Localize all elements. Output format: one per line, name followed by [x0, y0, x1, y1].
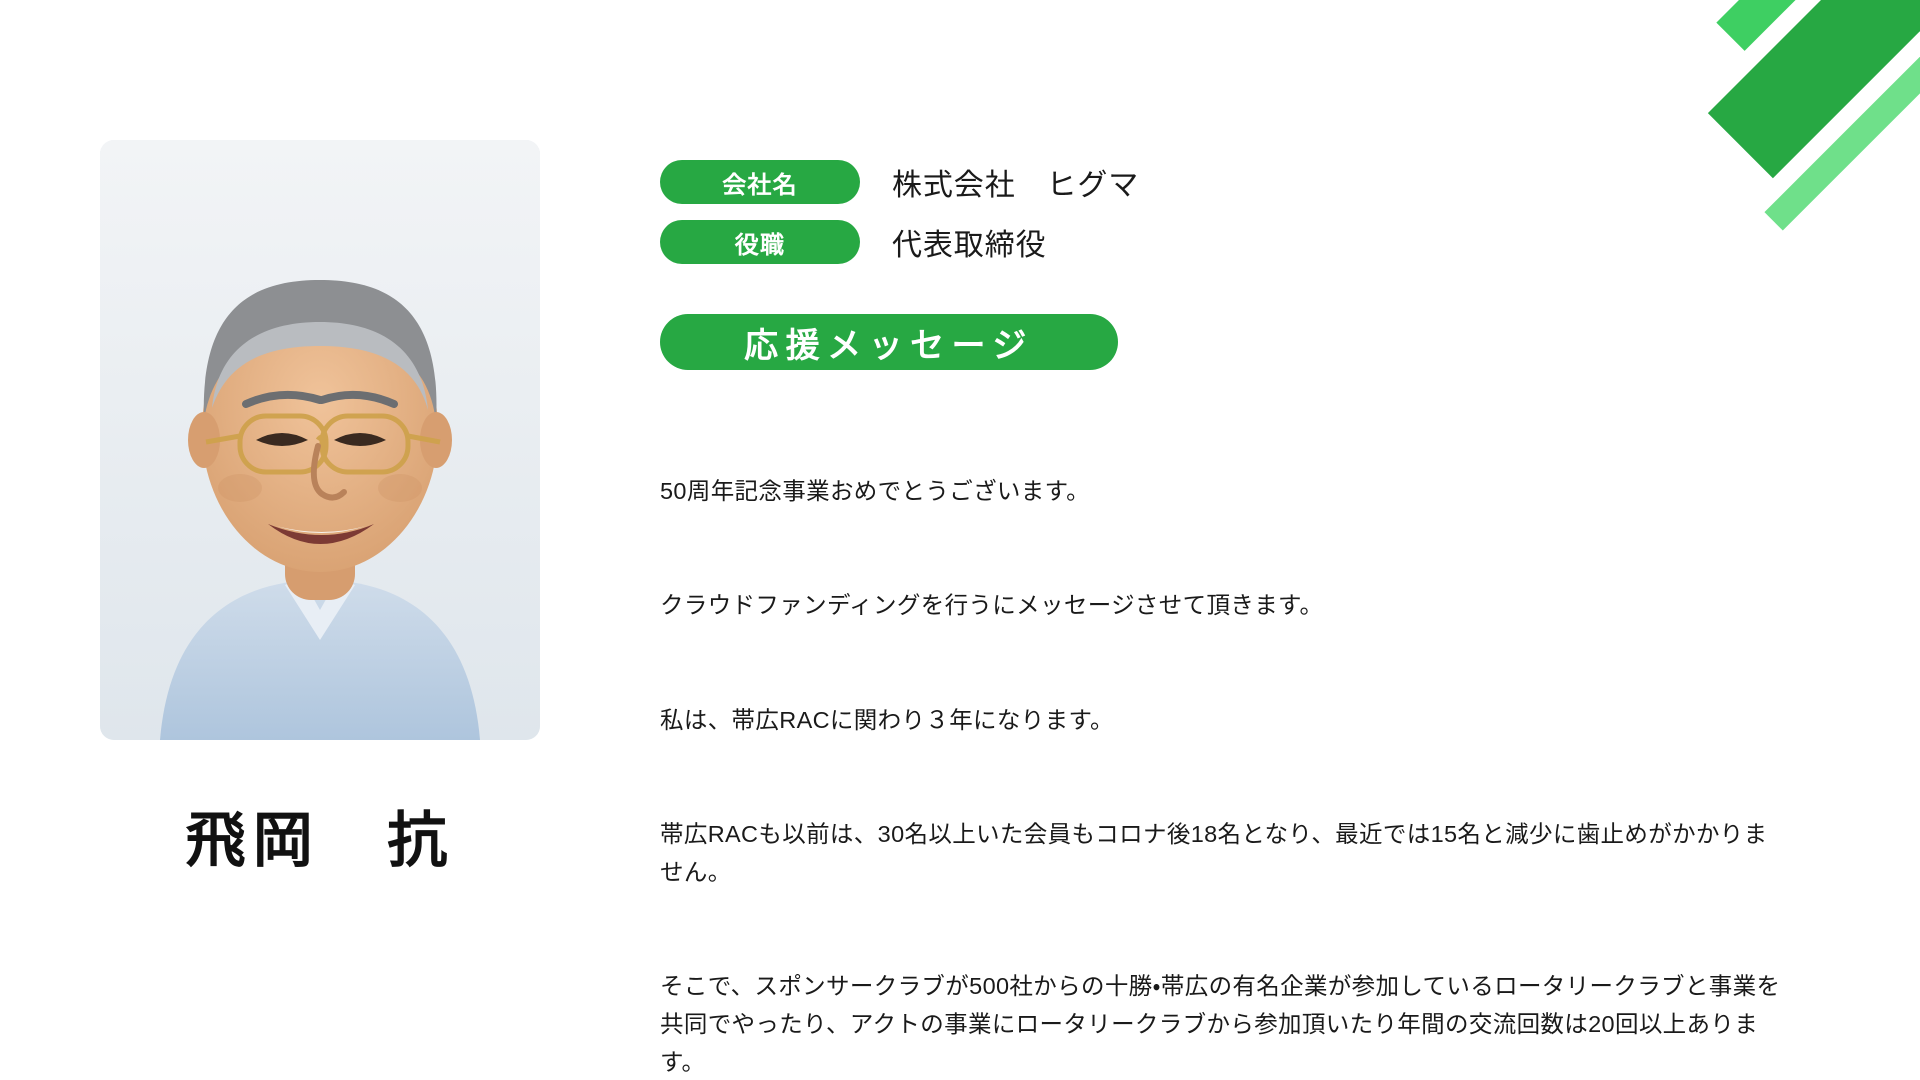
- company-value: 株式会社 ヒグマ: [892, 160, 1139, 204]
- field-row-position: 役職 代表取締役: [660, 220, 1790, 264]
- stripe-3: [1708, 0, 1920, 178]
- message-heading-badge: 応援メッセージ: [660, 314, 1118, 370]
- company-label-badge: 会社名: [660, 160, 860, 204]
- message-paragraph: クラウドファンディングを行うにメッセージさせて頂きます。: [660, 586, 1785, 624]
- portrait-illustration: [100, 140, 540, 740]
- position-value: 代表取締役: [892, 220, 1047, 264]
- message-paragraph: 帯広RACも以前は、30名以上いた会員もコロナ後18名となり、最近では15名と減…: [660, 815, 1785, 891]
- field-row-company: 会社名 株式会社 ヒグマ: [660, 160, 1790, 204]
- info-column: 会社名 株式会社 ヒグマ 役職 代表取締役 応援メッセージ 50周年記念事業おめ…: [660, 160, 1790, 1080]
- message-paragraph: そこで、スポンサークラブが500社からの十勝・帯広の有名企業が参加しているロータ…: [660, 967, 1785, 1080]
- stripe-2: [1716, 0, 1920, 51]
- portrait-photo: [100, 140, 540, 740]
- person-name: 飛岡 抗: [0, 792, 640, 879]
- profile-message-card: 飛岡 抗 会社名 株式会社 ヒグマ 役職 代表取締役 応援メッセージ 50周年記…: [0, 0, 1920, 1080]
- portrait-column: 飛岡 抗: [0, 140, 640, 879]
- position-label-badge: 役職: [660, 220, 860, 264]
- message-paragraph: 私は、帯広RACに関わり３年になります。: [660, 701, 1785, 739]
- message-body: 50周年記念事業おめでとうございます。 クラウドファンディングを行うにメッセージ…: [660, 396, 1785, 1080]
- message-paragraph: 50周年記念事業おめでとうございます。: [660, 472, 1785, 510]
